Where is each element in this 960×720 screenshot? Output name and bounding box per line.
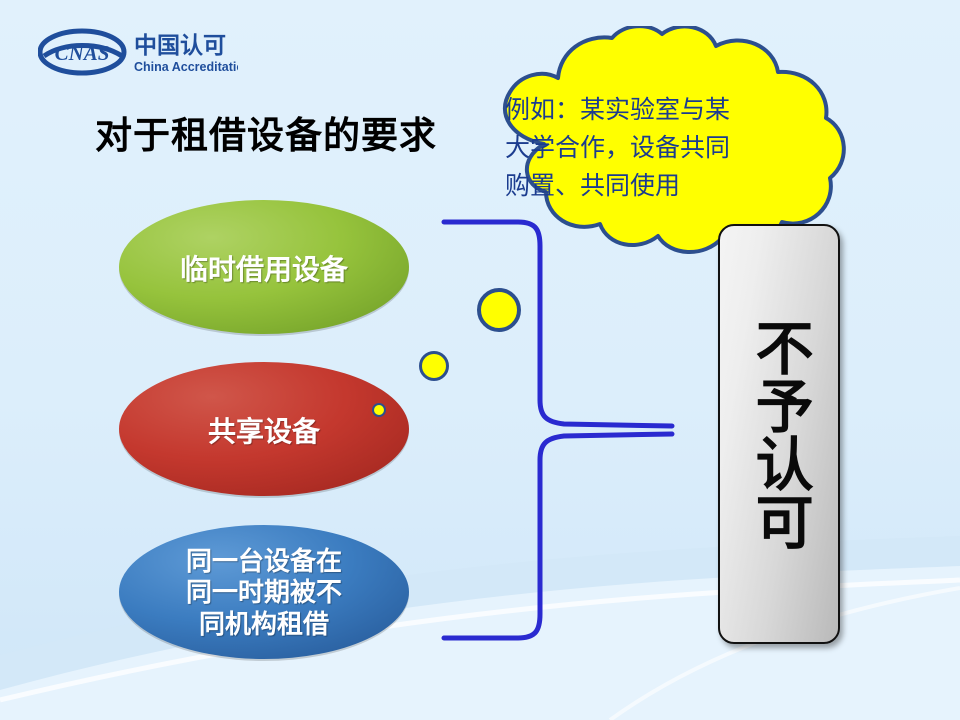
- page-title: 对于租借设备的要求: [95, 105, 437, 159]
- callout-tail-dot-medium: [419, 351, 449, 381]
- callout-tail-dot-small: [372, 403, 386, 417]
- item-ellipse-shared-equipment[interactable]: 共享设备: [118, 361, 410, 499]
- ellipse-shape: [118, 524, 410, 662]
- logo-name-en: China Accreditation: [134, 60, 238, 74]
- slide-canvas: CNAS 中国认可 China Accreditation 对于租借设备的要求 …: [0, 0, 960, 720]
- item-ellipse-same-equipment-rented-by-different-orgs[interactable]: 同一台设备在 同一时期被不 同机构租借: [118, 524, 410, 662]
- ellipse-shape: [118, 361, 410, 499]
- logo-name-cn: 中国认可: [134, 32, 226, 58]
- callout-text-line: 例如：某实验室与某: [505, 92, 795, 130]
- ellipse-shape: [118, 199, 410, 337]
- callout-text-line: 大学合作，设备共同: [505, 130, 795, 168]
- result-text: 不予认可: [747, 318, 810, 550]
- callout-tail-dot-large: [477, 288, 521, 332]
- result-panel[interactable]: 不予认可: [718, 224, 840, 644]
- item-ellipse-temporary-borrowed-equipment[interactable]: 临时借用设备: [118, 199, 410, 337]
- callout-text: 例如：某实验室与某 大学合作，设备共同 购置、共同使用: [505, 92, 795, 206]
- cnas-logo: CNAS 中国认可 China Accreditation: [38, 26, 238, 78]
- callout-text-line: 购置、共同使用: [505, 168, 795, 206]
- cnas-mark-text: CNAS: [55, 41, 110, 65]
- cnas-mark-icon: CNAS: [40, 31, 124, 73]
